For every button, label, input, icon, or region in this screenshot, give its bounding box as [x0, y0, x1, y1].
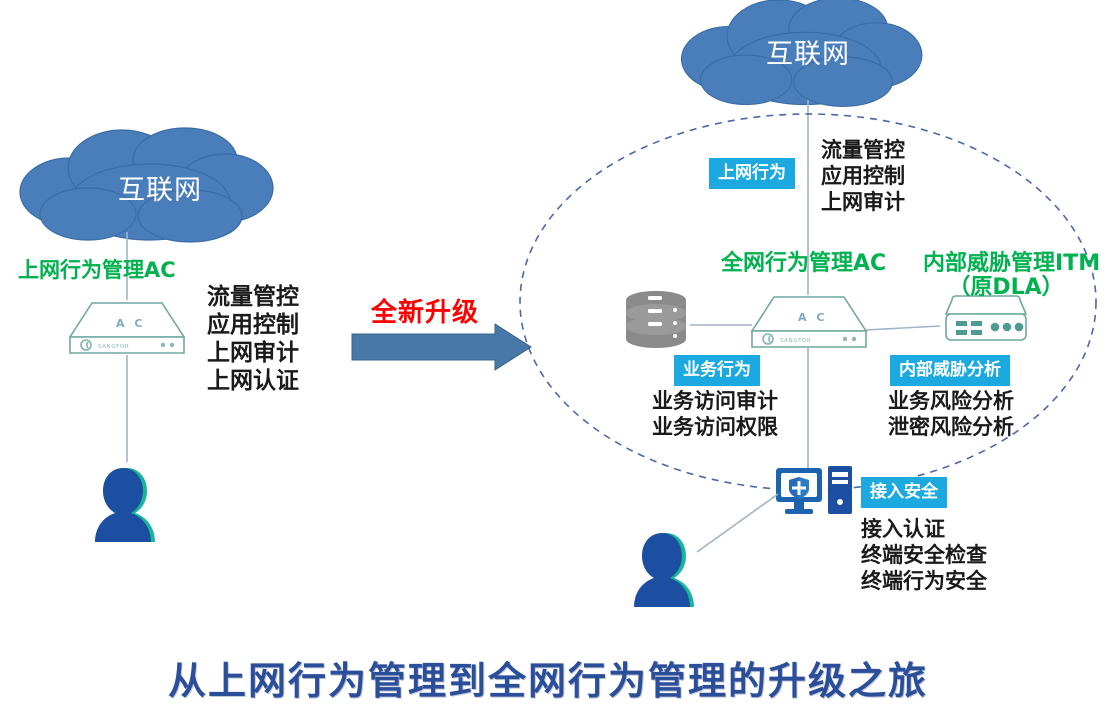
- itm-title: 内部威胁管理ITM （原DLA）: [923, 252, 1089, 300]
- left-feature-item: 流量管控: [207, 283, 299, 311]
- business-behavior-item: 业务访问权限: [652, 414, 778, 440]
- internet-behavior-item: 应用控制: [821, 163, 905, 189]
- left-feature-item: 上网认证: [207, 367, 299, 395]
- access-security-item: 接入认证: [861, 516, 987, 542]
- badge-internal-threat: 内部威胁分析: [890, 355, 1010, 386]
- itm-title-line1: 内部威胁管理ITM: [923, 252, 1089, 276]
- left-ac-device-icon: SANGFOR A C: [70, 303, 184, 353]
- link-user-pc: [697, 494, 778, 552]
- left-cloud-label: 互联网: [70, 168, 250, 207]
- badge-access-security: 接入安全: [861, 477, 947, 508]
- left-feature-item: 应用控制: [207, 311, 299, 339]
- internal-threat-item: 泄密风险分析: [888, 414, 1014, 440]
- right-cloud-label: 互联网: [722, 32, 894, 71]
- svg-text:A C: A C: [116, 317, 145, 330]
- upgrade-arrow-label: 全新升级: [371, 292, 479, 329]
- right-ac-title: 全网行为管理AC: [721, 252, 886, 276]
- left-feature-item: 上网审计: [207, 339, 299, 367]
- badge-internet-behavior: 上网行为: [709, 158, 795, 189]
- link-ac-itm: [866, 326, 940, 330]
- left-feature-list: 流量管控 应用控制 上网审计 上网认证: [207, 283, 299, 395]
- itm-device-icon: [946, 296, 1026, 340]
- internet-behavior-item: 上网审计: [821, 189, 905, 215]
- left-product-title: 上网行为管理AC: [18, 258, 176, 282]
- upgrade-arrow-icon: [352, 324, 531, 370]
- svg-text:A C: A C: [798, 311, 827, 324]
- itm-title-line2: （原DLA）: [923, 276, 1089, 300]
- internet-behavior-item: 流量管控: [821, 137, 905, 163]
- left-user-icon: [95, 468, 155, 542]
- access-security-item: 终端安全检查: [861, 542, 987, 568]
- access-security-item: 终端行为安全: [861, 568, 987, 594]
- business-behavior-list: 业务访问审计 业务访问权限: [652, 388, 778, 440]
- right-ac-device-icon: SANGFOR A C: [752, 297, 866, 347]
- access-security-list: 接入认证 终端安全检查 终端行为安全: [861, 516, 987, 594]
- right-user-icon: [634, 533, 694, 607]
- internet-behavior-list: 流量管控 应用控制 上网审计: [821, 137, 905, 215]
- badge-business-behavior: 业务行为: [674, 355, 760, 386]
- database-icon: [626, 291, 686, 348]
- internal-threat-list: 业务风险分析 泄密风险分析: [888, 388, 1014, 440]
- diagram-canvas: SANGFOR A C: [0, 0, 1113, 720]
- internal-threat-item: 业务风险分析: [888, 388, 1014, 414]
- business-behavior-item: 业务访问审计: [652, 388, 778, 414]
- svg-text:SANGFOR: SANGFOR: [780, 338, 811, 344]
- svg-text:SANGFOR: SANGFOR: [98, 344, 129, 350]
- page-title: 从上网行为管理到全网行为管理的升级之旅: [168, 650, 928, 705]
- endpoint-pc-icon: [776, 466, 852, 514]
